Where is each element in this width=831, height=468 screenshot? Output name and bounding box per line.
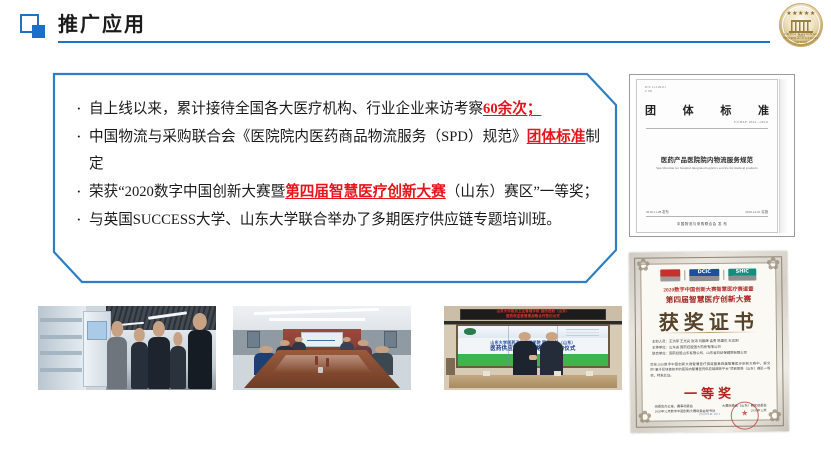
photo-side-object <box>446 358 455 375</box>
bullet-text: 中国物流与采购联合会《医院院内医药商品物流服务（SPD）规范》 <box>89 129 527 145</box>
shelf-row <box>40 368 82 372</box>
photo-signing[interactable]: 山东大学医药卫生管理学院 国药控股（山东） 医药供应链管理战略合作签约仪式 山东… <box>444 306 622 390</box>
certificate-body-text: 您在2020数字中国创新大赛智慧医疗赛道暨第四届智慧医疗创新大赛中，提交的“基于… <box>650 361 770 378</box>
logo-divider <box>684 270 685 280</box>
photo-desk-row <box>449 375 616 388</box>
bullet-text: 荣获“2020数字中国创新大赛暨 <box>89 184 285 200</box>
highlighted-text: 60余次； <box>483 101 541 117</box>
photo-bottle <box>315 356 318 365</box>
shelf-row <box>40 351 82 355</box>
photo-person <box>188 330 213 389</box>
certificate-event-line-2: 第四届智慧医疗创新大赛 <box>646 293 772 305</box>
video-wall-pagoda-graphic <box>566 327 599 337</box>
photo-led-banner: 山东大学医药卫生管理学院 国药控股（山东） 医药供应链管理战略合作签约仪式 <box>460 309 606 321</box>
bullet-text: （山东）赛区”一等奖； <box>446 184 598 200</box>
photo-person <box>131 342 149 389</box>
photo-bottle <box>326 358 329 367</box>
emblem-stars: ★★★★★ <box>779 11 823 17</box>
photo-meeting[interactable] <box>233 306 411 390</box>
document-dates: 2019-11-08 发布 2019-12-01 实施 <box>646 209 768 214</box>
certificate-prize-level: 一等奖 <box>630 382 788 403</box>
photo-side-panel <box>247 331 259 348</box>
photo-handshake <box>529 355 537 360</box>
section-marker-icon <box>20 14 50 38</box>
emblem-building-icon <box>791 20 811 31</box>
document-bottom-rule <box>646 216 768 217</box>
photo-shelving-unit <box>38 306 86 390</box>
emblem-arc-text: CHINA NATIONAL PHARMACEUTICAL GROUP <box>779 32 823 44</box>
document-title-english: Specification for hospital integrated lo… <box>643 166 771 170</box>
video-wall-seam <box>508 326 509 366</box>
certificate-fields: 主创人员：王洪军 王光亮 张涛 刘鹏辉 孟勇 陈建花 王志刚 主体单位：山东省 … <box>652 337 770 356</box>
certificate-field: 联合单位：国药控股山东有限公司、山东省妇幼保健院有限公司 <box>652 349 770 356</box>
list-item: 中国物流与采购联合会《医院院内医药商品物流服务（SPD）规范》团体标准制定 <box>74 124 600 178</box>
group-standard-document-thumbnail[interactable]: ICS 11.120.01 C 08 团 体 标 准 T/CBLF 1022—2… <box>629 74 795 237</box>
photo-projection-screen <box>301 332 344 347</box>
square-filled-icon <box>32 25 45 38</box>
document-issuer: 中国物流与采购联合会 发 布 <box>637 222 767 227</box>
document-standard-number: T/CBLF 1022—2019 <box>734 120 768 124</box>
list-item: 自上线以来，累计接待全国各大医疗机构、行业企业来访考察60余次； <box>74 96 600 123</box>
document-top-rule <box>646 128 768 129</box>
document-issue-date: 2019-11-08 发布 <box>646 209 669 214</box>
document-spine <box>779 79 788 233</box>
certificate-corner-ornament-icon: ✿ <box>634 408 656 430</box>
certificate-logo-row: DCIC SHIC <box>647 267 769 281</box>
heading-char-3: 标 <box>720 102 731 118</box>
logo-divider <box>723 269 724 279</box>
video-wall-logo-icon <box>464 328 476 334</box>
document-ics-code: ICS 11.120.01 C 08 <box>645 85 666 94</box>
bullet-text: 自上线以来，累计接待全国各大医疗机构、行业企业来访考察 <box>89 101 483 117</box>
photo-control-panel <box>87 321 107 339</box>
award-certificate-thumbnail[interactable]: ✿ ✿ ✿ ✿ DCIC SHIC 2020数字中国创新大赛智慧医疗赛道暨 第四… <box>629 251 789 433</box>
heading-char-2: 体 <box>683 102 694 118</box>
photo-glass <box>318 367 323 373</box>
shelf-row <box>40 318 82 322</box>
list-item: 荣获“2020数字中国创新大赛暨第四届智慧医疗创新大赛（山东）赛区”一等奖； <box>74 179 600 206</box>
heading-char-1: 团 <box>645 102 656 118</box>
shelf-row <box>40 335 82 339</box>
slide-header: 推广应用 <box>0 0 831 52</box>
shic-logo-icon: SHIC <box>728 268 756 280</box>
photo-person <box>170 346 186 390</box>
document-effective-date: 2019-12-01 实施 <box>745 209 768 214</box>
list-item: 与英国SUCCESS大学、山东大学联合举办了多期医疗供应链专题培训班。 <box>74 207 600 234</box>
heading-char-4: 准 <box>758 102 769 118</box>
highlighted-text: 团体标准 <box>527 129 586 145</box>
bullet-text: 与英国SUCCESS大学、山东大学联合举办了多期医疗供应链专题培训班。 <box>89 212 561 228</box>
document-title: 医药产品医院院内物流服务规范 <box>645 155 769 164</box>
document-page: ICS 11.120.01 C 08 团 体 标 准 T/CBLF 1022—2… <box>636 79 778 233</box>
banner-line-2: 医药供应链管理战略合作签约仪式 <box>506 314 560 319</box>
photo-site-visit[interactable] <box>38 306 216 390</box>
dcic-logo-icon: DCIC <box>689 268 719 280</box>
photo-desk-item <box>586 371 593 376</box>
photo-ceiling-light <box>269 318 365 321</box>
highlighted-text: 第四届智慧医疗创新大赛 <box>285 184 446 200</box>
header-divider-rule <box>58 41 770 43</box>
photo-person <box>148 337 169 389</box>
certificate-event-line-1: 2020数字中国创新大赛智慧医疗赛道暨 <box>645 285 771 293</box>
photo-desk-item <box>483 371 490 376</box>
photo-desk-item <box>554 371 561 376</box>
page-title: 推广应用 <box>58 8 146 37</box>
photo-person <box>107 337 127 389</box>
bullet-list: 自上线以来，累计接待全国各大医疗机构、行业企业来访考察60余次； 中国物流与采购… <box>74 96 600 235</box>
document-heading: 团 体 标 准 <box>645 102 769 118</box>
certificate-corner-ornament-icon: ✿ <box>764 406 786 428</box>
sponsor-logo-icon <box>660 269 680 281</box>
organization-emblem-icon: ★★★★★ 2003 CHINA NATIONAL PHARMACEUTICAL… <box>779 3 823 47</box>
text-callout-box: 自上线以来，累计接待全国各大医疗机构、行业企业来访考察60余次； 中国物流与采购… <box>52 72 618 284</box>
